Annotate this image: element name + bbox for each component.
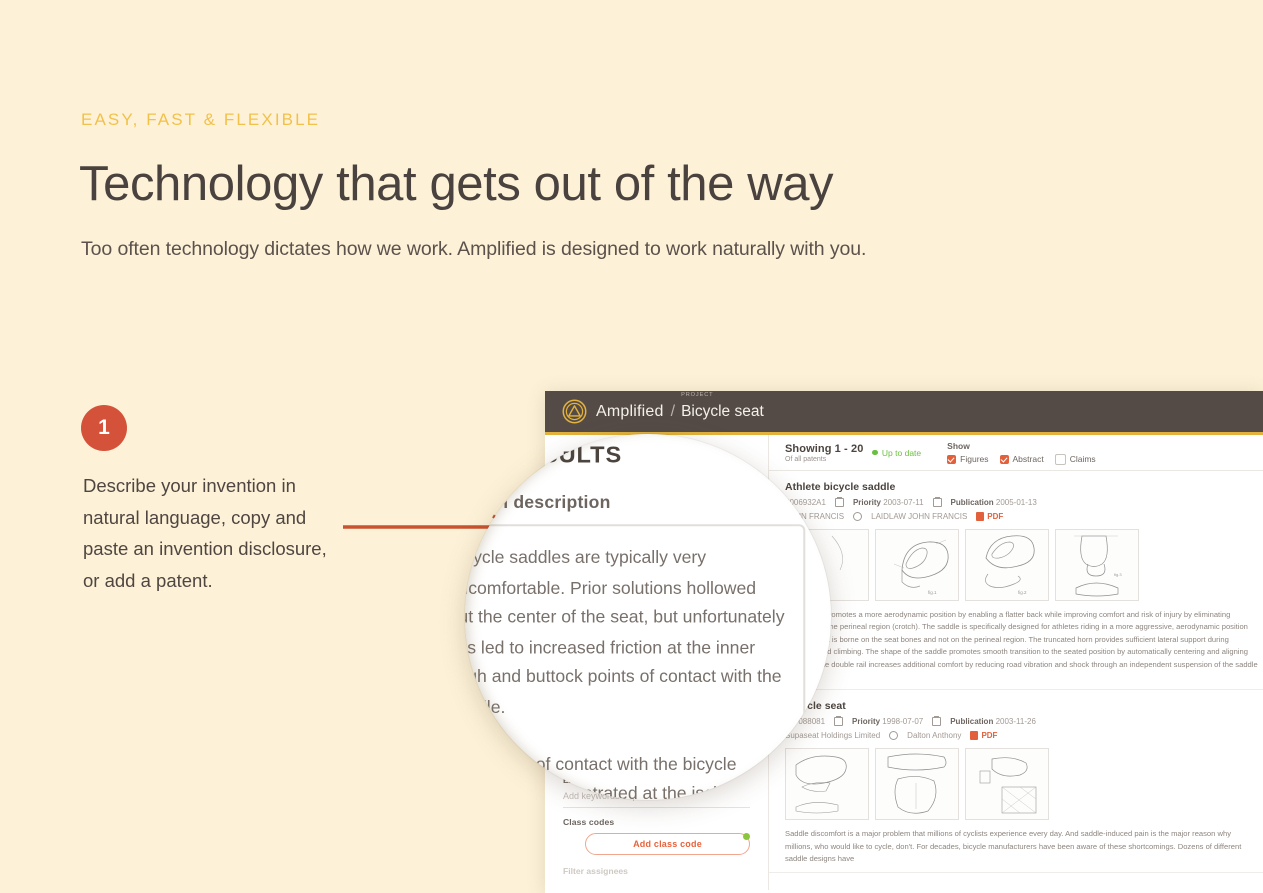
svg-text:fig.2: fig.2 [1018,590,1027,595]
brand-name[interactable]: Amplified [596,403,664,421]
status-label: Up to date [882,448,921,458]
result-title[interactable]: Athlete bicycle saddle [785,481,1263,493]
svg-text:fig.1: fig.1 [928,590,937,595]
pdf-icon [976,512,984,521]
result-meta: 097088081 Priority 1998-07-07 Publicatio… [785,717,1263,726]
figure-thumbnail[interactable]: fig.1 [875,529,959,601]
results-column: Showing 1 - 20 Of all patents Up to date… [769,435,1263,890]
step-description: Describe your invention in natural langu… [83,470,343,596]
result-meta: 0006932A1 Priority 2003-07-11 Publicatio… [785,498,1263,507]
checkbox-claims-label: Claims [1070,454,1096,464]
checkbox-claims-box[interactable] [1055,454,1066,465]
checkbox-abstract[interactable]: Abstract [1000,454,1044,464]
pdf-icon [970,731,978,740]
result-figures: 1C fig.1 fig.2 fig.3 [785,529,1263,601]
page-title: Technology that gets out of the way [79,152,833,216]
pdf-link[interactable]: PDF [970,731,997,740]
magnified-description-label: Invention description [465,491,805,512]
filter-assignees-label: Filter assignees [563,866,750,876]
person-icon [853,512,862,521]
section-eyebrow: EASY, FAST & FLEXIBLE [81,110,320,130]
checkbox-abstract-box[interactable] [1000,455,1009,464]
result-title[interactable]: Bicycle seat [785,700,1263,712]
step-number-badge: 1 [81,405,127,451]
checkbox-figures[interactable]: Figures [947,454,988,464]
pdf-label: PDF [981,731,997,740]
checkbox-claims[interactable]: Claims [1055,454,1096,465]
results-toolbar: Showing 1 - 20 Of all patents Up to date… [769,435,1263,471]
priority-label: Priority [852,717,880,726]
result-abstract: Saddle discomfort is a major problem tha… [785,828,1263,865]
status-dot-icon [872,450,878,456]
result-row[interactable]: Bicycle seat 097088081 Priority 1998-07-… [769,690,1263,872]
calendar-icon [933,498,942,507]
magnified-rank-results-title: RANK RESULTS [465,444,805,469]
checkbox-figures-label: Figures [960,454,988,464]
checkbox-abstract-label: Abstract [1013,454,1044,464]
person-icon [889,731,898,740]
status-dot [743,833,750,840]
app-header-bar: Amplified / PROJECT Bicycle seat [545,391,1263,435]
magnifier-content: Bicycle seat RANK RESULTS Invention desc… [465,434,831,800]
figure-thumbnail[interactable]: fig.3 [1055,529,1139,601]
result-people: Supaseat Holdings Limited Dalton Anthony… [785,731,1263,740]
publication-date: 2005-01-13 [996,498,1037,507]
add-class-code-button[interactable]: Add class code [585,833,750,855]
breadcrumb-separator: / [671,403,675,421]
checkbox-figures-box[interactable] [947,455,956,464]
publication-label: Publication [951,498,994,507]
pdf-link[interactable]: PDF [976,512,1003,521]
magnified-description-textarea[interactable]: Bicycle saddles are typically very uncom… [465,524,805,800]
figure-thumbnail[interactable] [965,748,1049,820]
publication-date: 2003-11-26 [996,717,1036,726]
figure-thumbnail[interactable]: fig.2 [965,529,1049,601]
page-subtitle: Too often technology dictates how we wor… [81,238,866,261]
magnified-description-p2: The points of contact with the bicycle s… [465,749,785,800]
priority-date: 1998-07-07 [882,717,923,726]
result-abstract: The saddle promotes a more aerodynamic p… [785,609,1263,683]
project-kicker-label: PROJECT [681,392,713,398]
pdf-label: PDF [987,512,1003,521]
figure-thumbnail[interactable] [875,748,959,820]
calendar-icon [835,498,844,507]
breadcrumb-project-name[interactable]: Bicycle seat [681,403,764,420]
priority-label: Priority [853,498,881,507]
result-inventor: Dalton Anthony [907,731,961,740]
result-inventor: LAIDLAW JOHN FRANCIS [871,512,967,521]
result-row[interactable]: Athlete bicycle saddle 0006932A1 Priorit… [769,471,1263,690]
calendar-icon [834,717,843,726]
amplified-logo-icon[interactable] [562,399,587,424]
calendar-icon [932,717,941,726]
magnified-description-p1: Bicycle saddles are typically very uncom… [465,543,785,723]
magnifier-lens: Bicycle seat RANK RESULTS Invention desc… [465,434,831,800]
publication-label: Publication [950,717,993,726]
show-filter-group: Show Figures Abstract Claims [947,441,1096,465]
priority-date: 2003-07-11 [883,498,923,507]
class-codes-label: Class codes [563,817,750,827]
status-badge: Up to date [872,448,921,458]
result-figures [785,748,1263,820]
svg-text:fig.3: fig.3 [1114,572,1122,577]
result-people: JOHN FRANCIS LAIDLAW JOHN FRANCIS PDF [785,512,1263,521]
show-label: Show [947,441,1096,451]
